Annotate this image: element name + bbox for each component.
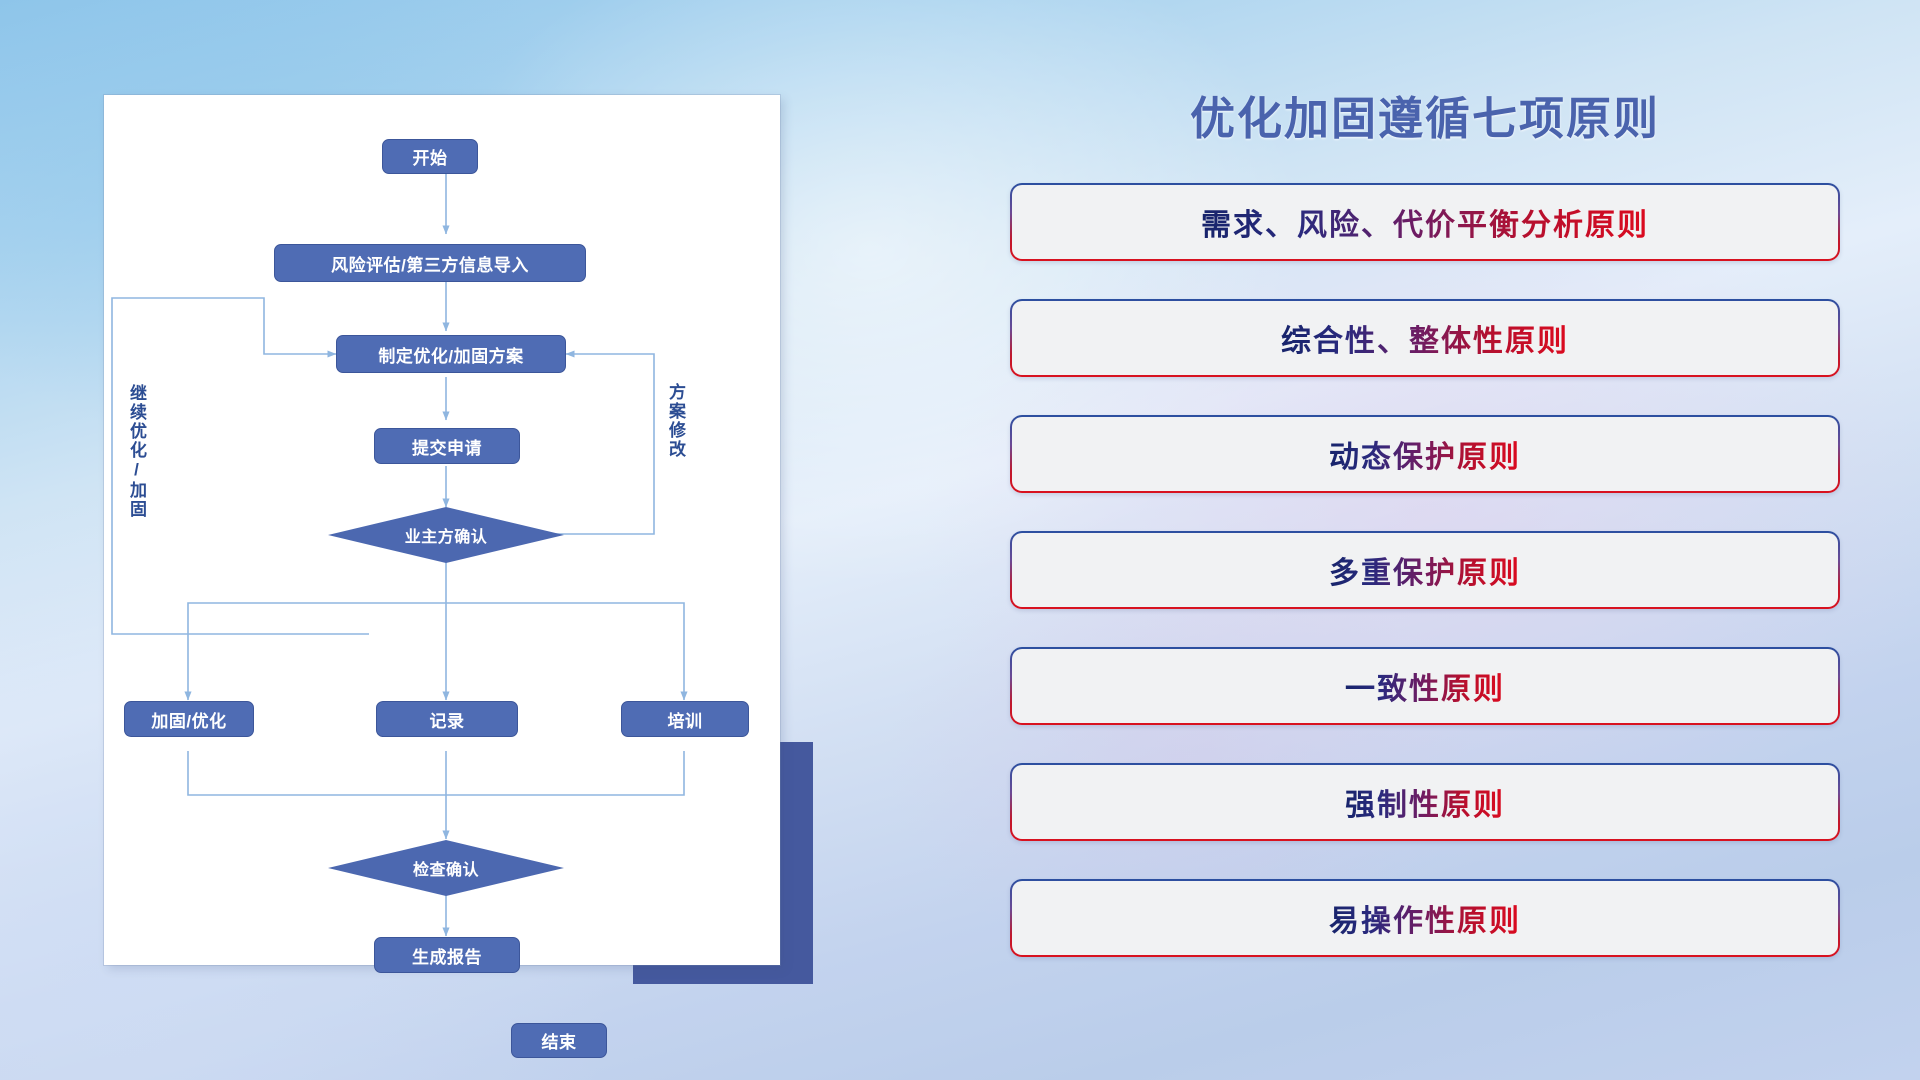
panel-title: 优化加固遵循七项原则 — [1010, 96, 1840, 141]
flowchart-canvas: 开始 风险评估/第三方信息导入 制定优化/加固方案 提交申请 业主方确认 加固/… — [104, 95, 780, 965]
flow-node-risk-assessment[interactable]: 风险评估/第三方信息导入 — [274, 244, 586, 282]
principle-item[interactable]: 多重保护原则 — [1010, 531, 1840, 609]
principle-inner: 易操作性原则 — [1012, 881, 1838, 955]
principles-panel: 优化加固遵循七项原则 需求、风险、代价平衡分析原则 综合性、整体性原则 动态保护… — [1010, 96, 1840, 996]
flow-node-inspect[interactable]: 检查确认 — [328, 840, 564, 896]
principle-item[interactable]: 综合性、整体性原则 — [1010, 299, 1840, 377]
flow-node-label: 风险评估/第三方信息导入 — [331, 251, 529, 276]
principle-label: 需求、风险、代价平衡分析原则 — [1201, 200, 1649, 244]
flow-node-label: 检查确认 — [328, 840, 564, 896]
edge-label-plan-revision: 方案修改 — [667, 383, 684, 459]
principle-inner: 一致性原则 — [1012, 649, 1838, 723]
principle-inner: 动态保护原则 — [1012, 417, 1838, 491]
flow-node-report[interactable]: 生成报告 — [374, 937, 520, 973]
flow-node-end[interactable]: 结束 — [511, 1023, 607, 1058]
flow-node-label: 加固/优化 — [151, 707, 226, 732]
flow-node-label: 业主方确认 — [328, 507, 564, 563]
flow-node-submit[interactable]: 提交申请 — [374, 428, 520, 464]
flow-node-training[interactable]: 培训 — [621, 701, 749, 737]
principle-label: 易操作性原则 — [1329, 896, 1521, 940]
principle-label: 多重保护原则 — [1329, 548, 1521, 592]
principle-list: 需求、风险、代价平衡分析原则 综合性、整体性原则 动态保护原则 多重保护原则 一… — [1010, 183, 1840, 957]
flow-node-record[interactable]: 记录 — [376, 701, 518, 737]
flowchart-card: 开始 风险评估/第三方信息导入 制定优化/加固方案 提交申请 业主方确认 加固/… — [104, 95, 780, 965]
flow-node-reinforce[interactable]: 加固/优化 — [124, 701, 254, 737]
flow-node-label: 记录 — [430, 707, 465, 732]
principle-item[interactable]: 需求、风险、代价平衡分析原则 — [1010, 183, 1840, 261]
flow-node-label: 制定优化/加固方案 — [378, 342, 523, 367]
principle-inner: 多重保护原则 — [1012, 533, 1838, 607]
flow-node-label: 开始 — [413, 144, 448, 169]
flow-node-label: 培训 — [668, 707, 703, 732]
principle-label: 一致性原则 — [1345, 664, 1505, 708]
principle-inner: 强制性原则 — [1012, 765, 1838, 839]
flow-node-start[interactable]: 开始 — [382, 139, 478, 174]
flow-node-plan[interactable]: 制定优化/加固方案 — [336, 335, 566, 373]
principle-label: 强制性原则 — [1345, 780, 1505, 824]
flow-node-label: 提交申请 — [412, 434, 482, 459]
edge-label-continue-optimize: 继续优化/加固 — [128, 384, 145, 519]
principle-label: 动态保护原则 — [1329, 432, 1521, 476]
principle-inner: 综合性、整体性原则 — [1012, 301, 1838, 375]
flow-node-owner-confirm[interactable]: 业主方确认 — [328, 507, 564, 563]
principle-item[interactable]: 动态保护原则 — [1010, 415, 1840, 493]
principle-inner: 需求、风险、代价平衡分析原则 — [1012, 185, 1838, 259]
principle-item[interactable]: 一致性原则 — [1010, 647, 1840, 725]
flow-node-label: 生成报告 — [412, 943, 482, 968]
principle-label: 综合性、整体性原则 — [1281, 316, 1569, 360]
flow-node-label: 结束 — [542, 1028, 577, 1053]
principle-item[interactable]: 易操作性原则 — [1010, 879, 1840, 957]
principle-item[interactable]: 强制性原则 — [1010, 763, 1840, 841]
